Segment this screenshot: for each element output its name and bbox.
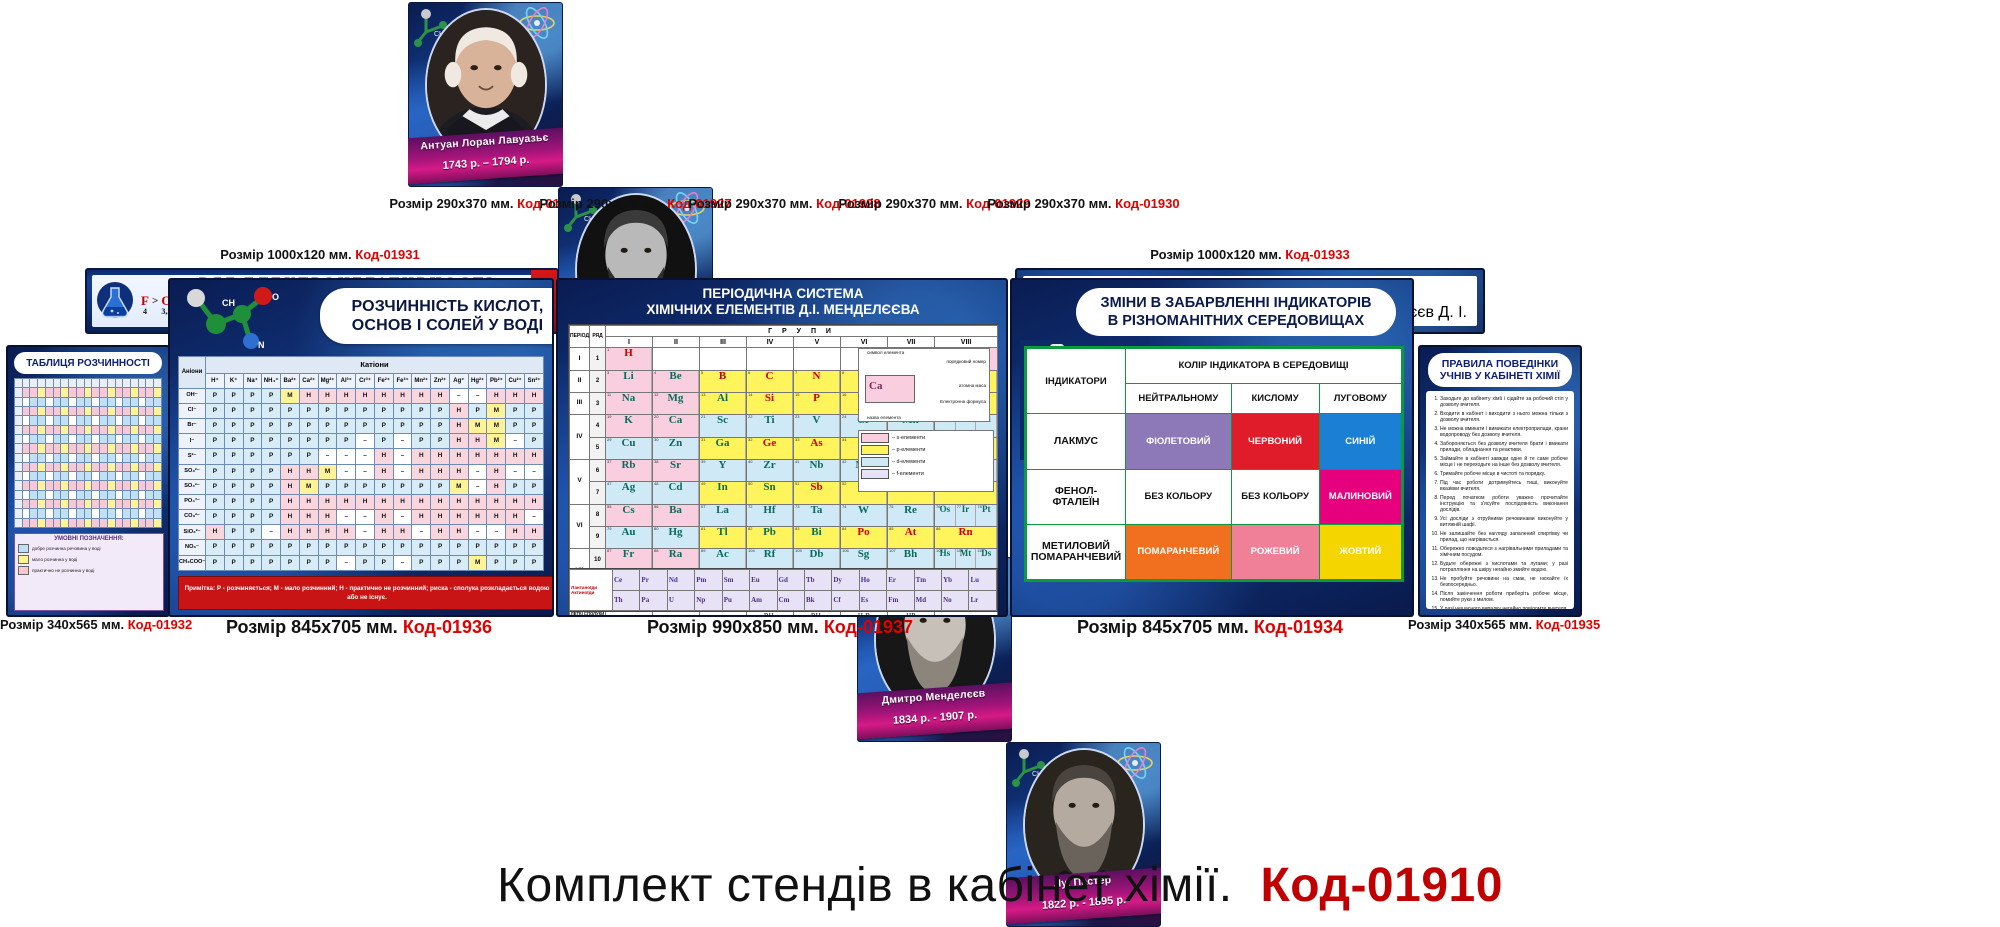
solubility-small-stand[interactable]: ТАБЛИЦЯ РОЗЧИННОСТІУМОВНІ ПОЗНАЧЕННЯ:доб… <box>6 345 170 617</box>
rules-item-14: Після закінчення роботи приберіть робоче… <box>1440 591 1568 603</box>
rules-item-8: Перед початком роботи уважно прочитайте … <box>1440 495 1568 514</box>
indicators-table: ІНДИКАТОРИКОЛІР ІНДИКАТОРА В СЕРЕДОВИЩІН… <box>1024 346 1404 582</box>
portrait-code: Код-01930 <box>1115 196 1179 211</box>
rules-item-1: Заходьте до кабінету хімії і сідайте за … <box>1440 396 1568 408</box>
eneg-gt: > <box>152 295 158 307</box>
solubility-big-note-text: Примітка: Р - розчиняється; М - мало роз… <box>184 584 550 602</box>
rules-item-11: Обережно поводьтеся з нагрівальними прил… <box>1440 546 1568 558</box>
periodic-callout: Caсимвол елементапорядковий номератомна … <box>858 348 990 422</box>
portrait-size: Розмір 290х370 мм. <box>838 196 962 211</box>
rules-title: ПРАВИЛА ПОВЕДІНКИУЧНІВ У КАБІНЕТІ ХІМІЇ <box>1428 353 1572 387</box>
solubility-small-size: Розмір 340х565 мм. <box>0 617 124 632</box>
portrait-size: Розмір 290х370 мм. <box>539 196 663 211</box>
catalog-main-title: Комплект стендів в кабінет хімії. Код-01… <box>0 858 2000 913</box>
svg-text:O: O <box>272 292 279 302</box>
rules-title-line1: ПРАВИЛА ПОВЕДІНКИ <box>1442 358 1558 370</box>
lanthanide-actinide-strip: ЛантаноїдиАктиноїдиCePrNdPmSmEuGdTbDyHoE… <box>568 568 998 612</box>
rules-item-3: Не можна вмикати і вимикати електроприла… <box>1440 426 1568 438</box>
rules-item-10: Не залишайте без нагляду запалений спирт… <box>1440 531 1568 543</box>
catalog-title-code: Код-01910 <box>1260 859 1502 912</box>
eneg-value: 4 <box>141 307 149 317</box>
solubility-small-title-text: ТАБЛИЦЯ РОЗЧИННОСТІ <box>26 358 150 369</box>
eneg-symbol: F <box>141 295 149 307</box>
rules-title-line2: УЧНІВ У КАБІНЕТІ ХІМІЇ <box>1440 370 1560 382</box>
portrait-size: Розмір 290х370 мм. <box>389 196 513 211</box>
svg-text:N: N <box>258 340 265 350</box>
indicators-caption: Розмір 845х705 мм. Код-01934 <box>1010 617 1410 638</box>
rules-item-9: Усі досліди з отруйними речовинами викон… <box>1440 516 1568 528</box>
portrait-caption-5: Розмір 290х370 мм. Код-01930 <box>986 196 1181 211</box>
solubility-big-note: Примітка: Р - розчиняється; М - мало роз… <box>178 576 554 610</box>
portrait-name-ribbon: Антуан Лоран Лавуазьє1743 р. – 1794 р. <box>408 127 563 185</box>
solubility-big-title-line2: ОСНОВ І СОЛЕЙ У ВОДІ <box>352 316 544 335</box>
rules-code: Код-01935 <box>1536 617 1600 632</box>
periodic-stand[interactable]: ПЕРІОДИЧНА СИСТЕМАХІМІЧНИХ ЕЛЕМЕНТІВ Д.І… <box>556 278 1008 617</box>
rules-caption: Розмір 340х565 мм. Код-01935 <box>1408 617 1588 632</box>
portrait-dates: 1743 р. – 1794 р. <box>408 151 563 175</box>
indicators-stand[interactable]: ЗМІНИ В ЗАБАРВЛЕННІ ІНДИКАТОРІВВ РІЗНОМА… <box>1010 278 1414 617</box>
portrait-name: Дмитро Менделєєв <box>857 685 1012 709</box>
indicators-title: ЗМІНИ В ЗАБАРВЛЕННІ ІНДИКАТОРІВВ РІЗНОМА… <box>1076 288 1396 336</box>
portrait-size: Розмір 290х370 мм. <box>987 196 1111 211</box>
electronegativity-caption: Розмір 1000х120 мм. Код-01931 <box>85 247 555 262</box>
indicators-title-line2: В РІЗНОМАНІТНИХ СЕРЕДОВИЩАХ <box>1108 312 1364 330</box>
flask-icon <box>95 280 135 320</box>
solubility-big-code: Код-01936 <box>403 617 492 637</box>
periodic-size: Розмір 990х850 мм. <box>647 617 819 637</box>
periodic-title-line1: ПЕРІОДИЧНА СИСТЕМА <box>618 286 948 302</box>
rules-item-5: Займайте в кабінеті завжди одне й те сам… <box>1440 456 1568 468</box>
periodic-code: Код-01937 <box>824 617 913 637</box>
solubility-big-size: Розмір 845х705 мм. <box>226 617 398 637</box>
solubility-big-stand[interactable]: CH O N РОЗЧИННІСТЬ КИСЛОТ,ОСНОВ І СОЛЕЙ … <box>168 278 554 617</box>
rules-item-4: Забороняється без дозволу вчителя брати … <box>1440 441 1568 453</box>
indicators-size: Розмір 845х705 мм. <box>1077 617 1249 637</box>
periodic-title: ПЕРІОДИЧНА СИСТЕМАХІМІЧНИХ ЕЛЕМЕНТІВ Д.І… <box>618 286 948 318</box>
solubility-small-grid <box>14 378 162 528</box>
periodic-title-line2: ХІМІЧНИХ ЕЛЕМЕНТІВ Д.І. МЕНДЕЛЄЄВА <box>618 302 948 318</box>
catalog-title-text: Комплект стендів в кабінет хімії. <box>497 859 1233 912</box>
periodic-caption: Розмір 990х850 мм. Код-01937 <box>556 617 1004 638</box>
molecule-model-icon: CH O N <box>176 284 316 354</box>
rules-item-7: Під час роботи дотримуйтесь тиші, викону… <box>1440 480 1568 492</box>
rules-item-15: У разі нещасного випадку негайно повідом… <box>1440 606 1568 609</box>
solubility-big-caption: Розмір 845х705 мм. Код-01936 <box>168 617 550 638</box>
quote-size: Розмір 1000х120 мм. <box>1150 247 1281 262</box>
portrait-dates: 1834 р. - 1907 р. <box>857 706 1012 730</box>
rules-item-2: Входити в кабінет і виходити з нього мож… <box>1440 411 1568 423</box>
svg-text:CH: CH <box>222 298 235 308</box>
portrait-card-1[interactable]: CH Антуан Лоран Лавуазьє1743 р. – 1794 р… <box>408 2 563 187</box>
rules-stand[interactable]: ПРАВИЛА ПОВЕДІНКИУЧНІВ У КАБІНЕТІ ХІМІЇЗ… <box>1418 345 1582 617</box>
portrait-name-ribbon: Дмитро Менделєєв1834 р. - 1907 р. <box>857 682 1012 740</box>
quote-caption: Розмір 1000х120 мм. Код-01933 <box>1015 247 1485 262</box>
electronegativity-code: Код-01931 <box>355 247 419 262</box>
quote-code: Код-01933 <box>1285 247 1349 262</box>
solubility-big-title: РОЗЧИННІСТЬ КИСЛОТ,ОСНОВ І СОЛЕЙ У ВОДІ <box>320 288 554 344</box>
rules-size: Розмір 340х565 мм. <box>1408 617 1532 632</box>
portrait-row: CH Антуан Лоран Лавуазьє1743 р. – 1794 р… <box>0 0 2000 215</box>
solubility-small-legend: УМОВНІ ПОЗНАЧЕННЯ:добре розчинна речовин… <box>14 533 164 611</box>
rules-item-6: Тримайте робоче місце в чистоті та поряд… <box>1440 471 1568 477</box>
solubility-big-title-line1: РОЗЧИННІСТЬ КИСЛОТ, <box>351 297 543 316</box>
rules-item-12: Будьте обережні з кислотами та лугами; у… <box>1440 561 1568 573</box>
portrait-size: Розмір 290х370 мм. <box>688 196 812 211</box>
periodic-legend: – s-елементи– p-елементи– d-елементи– f-… <box>858 430 994 492</box>
eneg-element-F: F4 <box>141 295 149 317</box>
solubility-small-caption: Розмір 340х565 мм. Код-01932 <box>0 617 175 632</box>
rules-list: Заходьте до кабінету хімії і сідайте за … <box>1432 396 1568 609</box>
rules-item-13: Не пробуйте речовини на смак, не нюхайте… <box>1440 576 1568 588</box>
rules-body: Заходьте до кабінету хімії і сідайте за … <box>1426 391 1574 609</box>
indicators-code: Код-01934 <box>1254 617 1343 637</box>
solubility-small-title: ТАБЛИЦЯ РОЗЧИННОСТІ <box>14 352 162 374</box>
electronegativity-size: Розмір 1000х120 мм. <box>220 247 351 262</box>
portrait-name: Антуан Лоран Лавуазьє <box>408 130 563 154</box>
indicators-title-line1: ЗМІНИ В ЗАБАРВЛЕННІ ІНДИКАТОРІВ <box>1101 294 1372 312</box>
solubility-big-table: АніониКатіониH⁺K⁺Na⁺NH₄⁺Ba²⁺Ca²⁺Mg²⁺Al³⁺… <box>178 356 544 571</box>
